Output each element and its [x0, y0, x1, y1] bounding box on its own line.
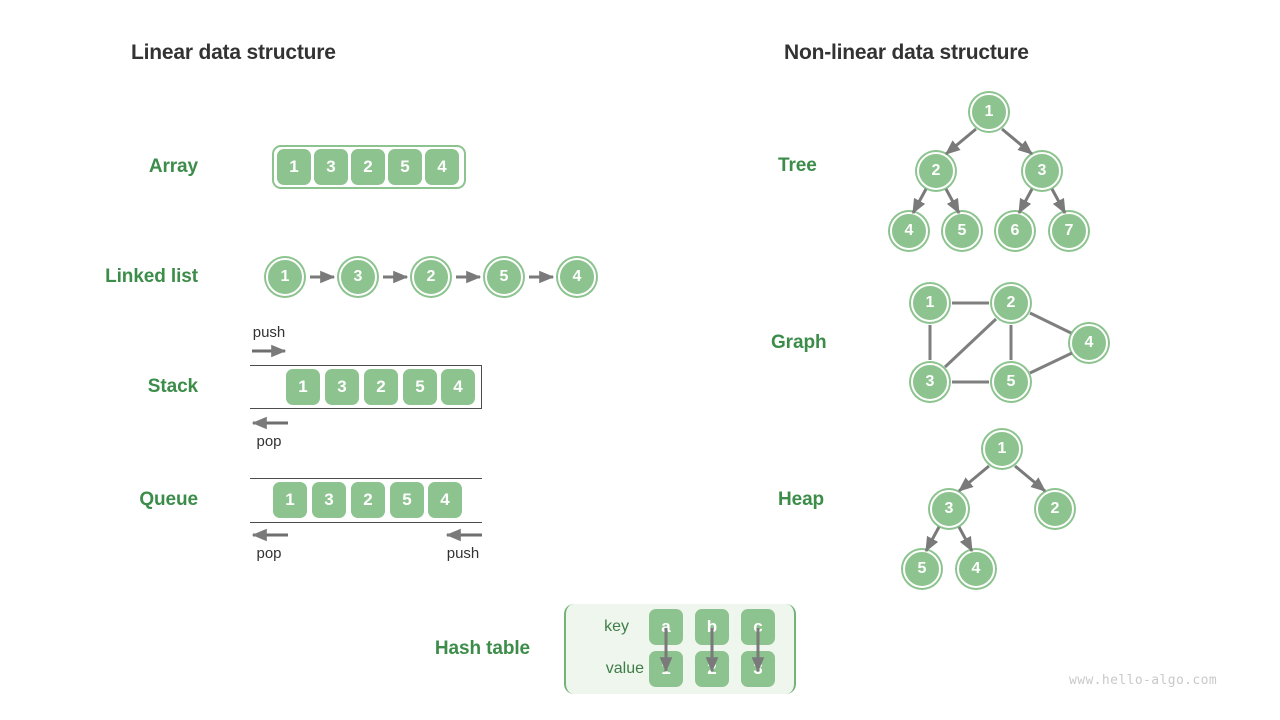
array-cell: 3	[314, 149, 348, 185]
hash-value-cell: 3	[741, 651, 775, 687]
array-cell: 1	[277, 149, 311, 185]
stack-cell: 5	[403, 369, 437, 405]
row-label-array: Array	[149, 156, 198, 178]
hash-value-label: value	[606, 660, 644, 678]
queue-cell: 3	[312, 482, 346, 518]
heap-node: 4	[957, 550, 995, 588]
linked-list-node: 1	[266, 258, 304, 296]
watermark: www.hello-algo.com	[1069, 673, 1217, 688]
section-title-linear: Linear data structure	[131, 41, 336, 65]
tree-node: 3	[1023, 152, 1061, 190]
row-label-heap: Heap	[778, 489, 824, 511]
graph-node: 1	[911, 284, 949, 322]
tree-node: 2	[917, 152, 955, 190]
hash-key-cell: a	[649, 609, 683, 645]
heap-node: 3	[930, 490, 968, 528]
tree-node: 5	[943, 212, 981, 250]
hash-key-cell: b	[695, 609, 729, 645]
queue-rail-bottom	[250, 522, 482, 523]
row-label-graph: Graph	[771, 332, 826, 354]
row-label-queue: Queue	[139, 489, 198, 511]
heap-node: 2	[1036, 490, 1074, 528]
tree-node: 6	[996, 212, 1034, 250]
hash-key-label: key	[604, 618, 629, 636]
row-label-tree: Tree	[778, 155, 817, 177]
graph-node: 4	[1070, 324, 1108, 362]
section-title-nonlinear: Non-linear data structure	[784, 41, 1029, 65]
queue-cell: 4	[428, 482, 462, 518]
queue-cell: 1	[273, 482, 307, 518]
queue-pop-label: pop	[256, 545, 281, 562]
row-label-linked-list: Linked list	[105, 266, 198, 288]
tree-node: 7	[1050, 212, 1088, 250]
tree-node: 1	[970, 93, 1008, 131]
array-container: 1 3 2 5 4	[272, 145, 466, 189]
tree-node: 4	[890, 212, 928, 250]
queue-cell: 2	[351, 482, 385, 518]
heap-node: 5	[903, 550, 941, 588]
linked-list-node: 2	[412, 258, 450, 296]
graph-node: 3	[911, 363, 949, 401]
diagram-canvas: Linear data structure Non-linear data st…	[0, 0, 1280, 720]
row-label-stack: Stack	[148, 376, 198, 398]
hash-key-cell: c	[741, 609, 775, 645]
stack-push-label: push	[253, 324, 286, 341]
heap-node: 1	[983, 430, 1021, 468]
row-label-hash-table: Hash table	[435, 638, 530, 660]
linked-list-node: 4	[558, 258, 596, 296]
queue-rail-top	[250, 478, 482, 479]
graph-node: 5	[992, 363, 1030, 401]
hash-value-cell: 2	[695, 651, 729, 687]
graph-node: 2	[992, 284, 1030, 322]
stack-cell: 4	[441, 369, 475, 405]
queue-cell: 5	[390, 482, 424, 518]
array-cell: 2	[351, 149, 385, 185]
queue-push-label: push	[447, 545, 480, 562]
hash-value-cell: 1	[649, 651, 683, 687]
array-cell: 4	[425, 149, 459, 185]
stack-cell: 1	[286, 369, 320, 405]
stack-pop-label: pop	[256, 433, 281, 450]
linked-list-node: 3	[339, 258, 377, 296]
stack-cell: 2	[364, 369, 398, 405]
stack-cell: 3	[325, 369, 359, 405]
array-cell: 5	[388, 149, 422, 185]
linked-list-node: 5	[485, 258, 523, 296]
